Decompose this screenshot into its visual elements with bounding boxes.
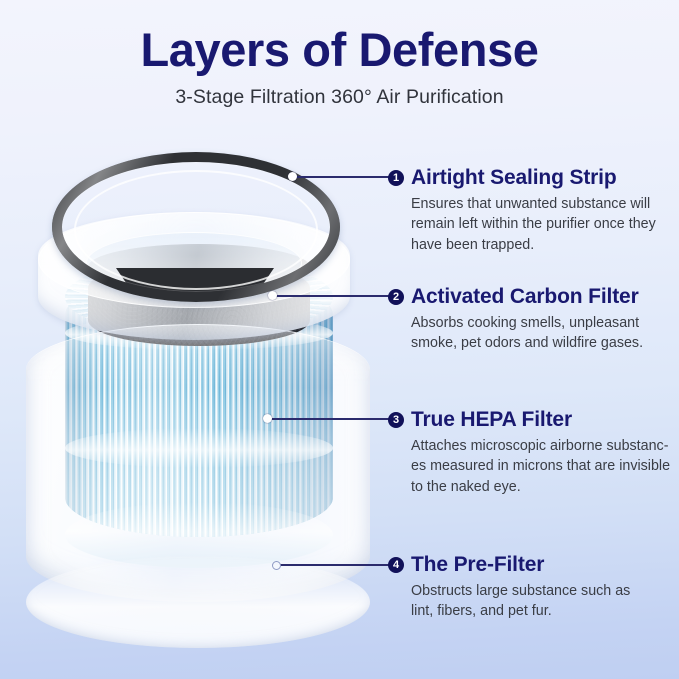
callout-2-body-line-1: Absorbs cooking smells, unpleasant bbox=[411, 313, 643, 333]
callout-2-body-line-2: smoke, pet odors and wildfire gases. bbox=[411, 333, 643, 353]
infographic-poster: Layers of Defense 3-Stage Filtration 360… bbox=[0, 0, 679, 679]
callout-3-body-line-3: to the naked eye. bbox=[411, 477, 670, 497]
callout-1-body-line-2: remain left within the purifier once the… bbox=[411, 214, 656, 234]
callout-1-heading: 1 Airtight Sealing Strip bbox=[388, 166, 656, 190]
callout-3-heading: 3 True HEPA Filter bbox=[388, 408, 670, 432]
leader-line-4 bbox=[280, 564, 390, 566]
callout-4-body-line-1: Obstructs large substance such as bbox=[411, 581, 630, 601]
callout-2-body: Absorbs cooking smells, unpleasant smoke… bbox=[411, 313, 643, 354]
leader-dot-1 bbox=[288, 172, 297, 181]
callout-1-body-line-3: have been trapped. bbox=[411, 235, 656, 255]
page-title: Layers of Defense bbox=[0, 0, 679, 77]
header: Layers of Defense 3-Stage Filtration 360… bbox=[0, 0, 679, 109]
callout-2-heading: 2 Activated Carbon Filter bbox=[388, 285, 643, 309]
callout-the-pre-filter: 4 The Pre-Filter Obstructs large substan… bbox=[388, 553, 630, 622]
callout-4-badge: 4 bbox=[388, 557, 404, 573]
sealing-strip-inner-ring bbox=[74, 170, 318, 290]
leader-line-3 bbox=[271, 418, 390, 420]
leader-dot-3 bbox=[263, 414, 272, 423]
callout-airtight-sealing-strip: 1 Airtight Sealing Strip Ensures that un… bbox=[388, 166, 656, 255]
callout-true-hepa-filter: 3 True HEPA Filter Attaches microscopic … bbox=[388, 408, 670, 497]
pre-filter-bottom-rim bbox=[26, 556, 370, 648]
callout-4-heading: 4 The Pre-Filter bbox=[388, 553, 630, 577]
leader-line-2 bbox=[276, 295, 390, 297]
callout-4-title: The Pre-Filter bbox=[411, 553, 544, 577]
callout-3-title: True HEPA Filter bbox=[411, 408, 572, 432]
callout-3-body-line-2: es measured in microns that are invisibl… bbox=[411, 456, 670, 476]
callout-activated-carbon-filter: 2 Activated Carbon Filter Absorbs cookin… bbox=[388, 285, 643, 354]
callout-1-body: Ensures that unwanted substance will rem… bbox=[411, 194, 656, 255]
callout-2-title: Activated Carbon Filter bbox=[411, 285, 639, 309]
callout-4-body: Obstructs large substance such as lint, … bbox=[411, 581, 630, 622]
page-subtitle: 3-Stage Filtration 360° Air Purification bbox=[0, 77, 679, 109]
callout-1-title: Airtight Sealing Strip bbox=[411, 166, 617, 190]
callout-3-body: Attaches microscopic airborne substanc- … bbox=[411, 436, 670, 497]
callout-2-badge: 2 bbox=[388, 289, 404, 305]
callout-1-body-line-1: Ensures that unwanted substance will bbox=[411, 194, 656, 214]
callout-1-badge: 1 bbox=[388, 170, 404, 186]
leader-dot-2 bbox=[268, 291, 277, 300]
callout-4-body-line-2: lint, fibers, and pet fur. bbox=[411, 601, 630, 621]
leader-dot-4 bbox=[272, 561, 281, 570]
callout-3-badge: 3 bbox=[388, 412, 404, 428]
callout-3-body-line-1: Attaches microscopic airborne substanc- bbox=[411, 436, 670, 456]
leader-line-1 bbox=[296, 176, 390, 178]
product-illustration bbox=[8, 140, 388, 650]
